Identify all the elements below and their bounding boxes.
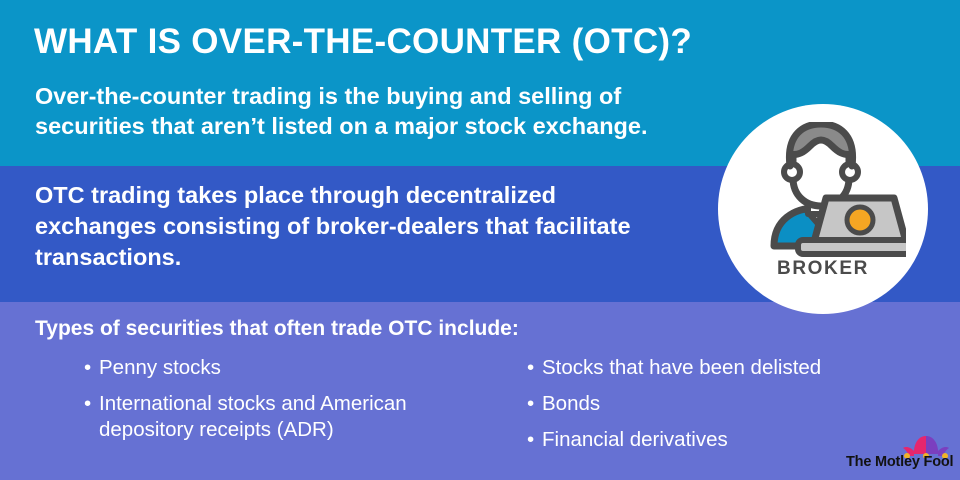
bullet-dot-icon: • [527,427,542,453]
infographic-canvas: WHAT IS OVER-THE-COUNTER (OTC)? Over-the… [0,0,960,480]
middle-paragraph: OTC trading takes place through decentra… [35,180,655,273]
motley-fool-logo[interactable]: The Motley Fool [846,432,950,472]
bullet-list-left: • Penny stocks • International stocks an… [84,355,504,453]
bullet-dot-icon: • [527,391,542,417]
logo-wordmark: The Motley Fool [846,454,950,470]
list-item: • Bonds [527,391,927,417]
bullet-dot-icon: • [527,355,542,381]
broker-label: BROKER [718,258,928,280]
list-item: • International stocks and American depo… [84,391,504,443]
types-heading: Types of securities that often trade OTC… [35,316,519,342]
list-item-label: Bonds [542,391,927,417]
broker-at-laptop-icon [740,122,906,258]
page-title: WHAT IS OVER-THE-COUNTER (OTC)? [34,22,834,62]
broker-badge: BROKER [718,104,928,314]
list-item: • Stocks that have been delisted [527,355,927,381]
list-item-label: International stocks and American deposi… [99,391,504,443]
intro-paragraph: Over-the-counter trading is the buying a… [35,81,695,141]
list-item-label: Penny stocks [99,355,504,381]
list-item: • Penny stocks [84,355,504,381]
bullet-dot-icon: • [84,391,99,417]
bullet-dot-icon: • [84,355,99,381]
list-item-label: Stocks that have been delisted [542,355,927,381]
